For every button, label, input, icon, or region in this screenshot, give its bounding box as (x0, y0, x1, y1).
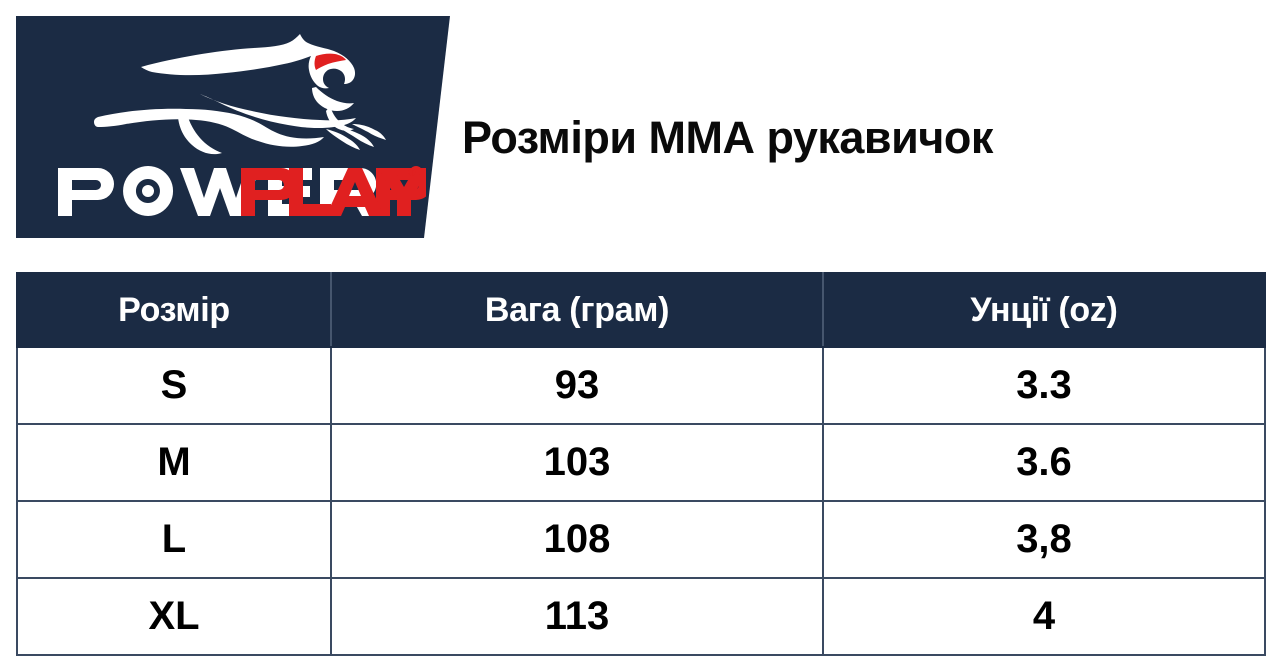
cell-size: M (17, 424, 331, 501)
column-header-ounces: Унції (oz) (823, 273, 1265, 347)
cell-ounces: 3,8 (823, 501, 1265, 578)
cell-ounces: 3.6 (823, 424, 1265, 501)
cell-size: L (17, 501, 331, 578)
svg-text:®: ® (408, 167, 416, 179)
page-header: ® Розміри ММА рукавичок (0, 0, 1280, 256)
column-header-size: Розмір (17, 273, 331, 347)
column-header-weight: Вага (грам) (331, 273, 823, 347)
cell-size: S (17, 347, 331, 424)
powerplay-wordmark-red: ® (56, 164, 426, 220)
cell-weight: 93 (331, 347, 823, 424)
cell-ounces: 4 (823, 578, 1265, 655)
table-row: M 103 3.6 (17, 424, 1265, 501)
table-row: S 93 3.3 (17, 347, 1265, 424)
cell-ounces: 3.3 (823, 347, 1265, 424)
table-row: XL 113 4 (17, 578, 1265, 655)
size-chart-table: Розмір Вага (грам) Унції (oz) S 93 3.3 M… (16, 272, 1266, 656)
cell-size: XL (17, 578, 331, 655)
panther-icon (94, 32, 394, 158)
cell-weight: 108 (331, 501, 823, 578)
brand-logo-block: ® (16, 16, 452, 238)
table-row: L 108 3,8 (17, 501, 1265, 578)
cell-weight: 103 (331, 424, 823, 501)
page-title: Розміри ММА рукавичок (462, 113, 1262, 163)
table-header-row: Розмір Вага (грам) Унції (oz) (17, 273, 1265, 347)
cell-weight: 113 (331, 578, 823, 655)
